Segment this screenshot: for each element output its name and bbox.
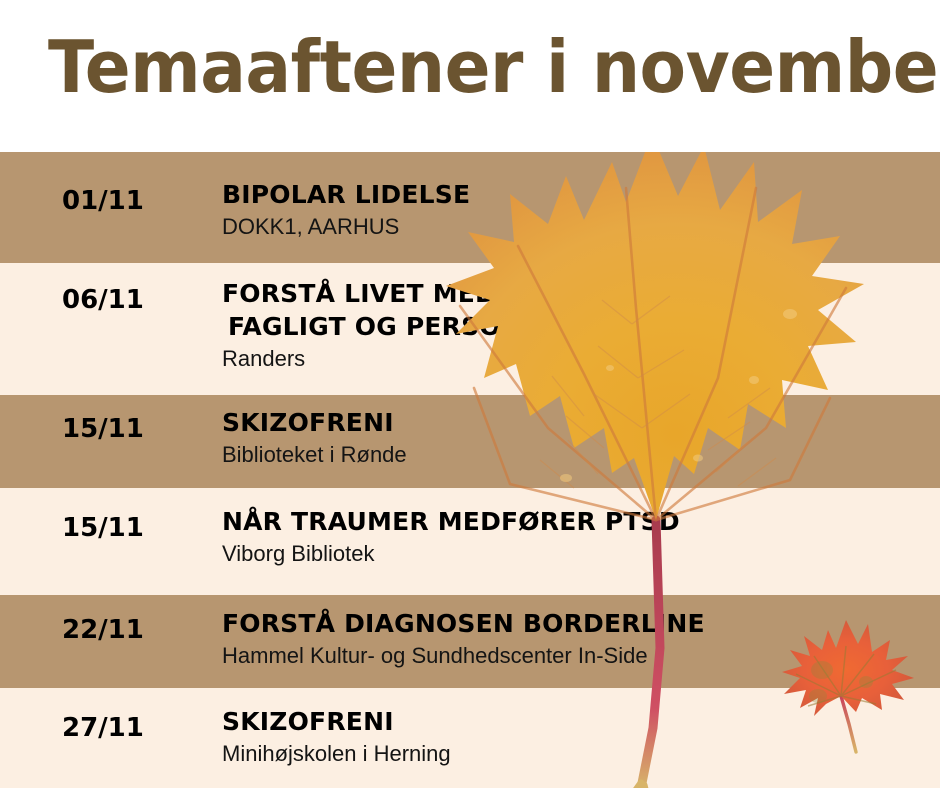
schedule-row: 27/11 SKIZOFRENI Minihøjskolen i Herning	[0, 688, 940, 788]
row-event-title: NÅR TRAUMER MEDFØRER PTSD	[222, 505, 930, 538]
row-event-venue: Minihøjskolen i Herning	[222, 739, 930, 769]
schedule-row: 06/11 FORSTÅ LIVET MED AUTISME UD FRA ET…	[0, 263, 940, 395]
row-date: 01/11	[62, 186, 144, 216]
row-date: 15/11	[62, 513, 144, 543]
row-event-title-line2: FAGLIGT OG PERSONLIGT PERSPEKTIV	[222, 310, 930, 343]
schedule-row: 15/11 SKIZOFRENI Biblioteket i Rønde	[0, 395, 940, 488]
schedule-row: 01/11 BIPOLAR LIDELSE DOKK1, AARHUS	[0, 152, 940, 263]
row-event-title: SKIZOFRENI	[222, 705, 930, 738]
row-date: 22/11	[62, 615, 144, 645]
row-event-title: BIPOLAR LIDELSE	[222, 178, 930, 211]
schedule-row: 15/11 NÅR TRAUMER MEDFØRER PTSD Viborg B…	[0, 488, 940, 595]
row-event-title: SKIZOFRENI	[222, 406, 930, 439]
page-title: Temaaftener i november	[48, 24, 856, 110]
title-band: Temaaftener i november	[0, 0, 940, 152]
row-event-venue: Biblioteket i Rønde	[222, 440, 930, 470]
row-date: 27/11	[62, 713, 144, 743]
row-date: 15/11	[62, 414, 144, 444]
row-event-title: FORSTÅ LIVET MED AUTISME UD FRA ET	[222, 277, 930, 310]
poster-canvas: 01/11 BIPOLAR LIDELSE DOKK1, AARHUS 06/1…	[0, 0, 940, 788]
row-event-title: FORSTÅ DIAGNOSEN BORDERLINE	[222, 607, 930, 640]
schedule-row: 22/11 FORSTÅ DIAGNOSEN BORDERLINE Hammel…	[0, 595, 940, 688]
row-event-venue: Hammel Kultur- og Sundhedscenter In-Side	[222, 641, 930, 671]
row-event-venue: DOKK1, AARHUS	[222, 212, 930, 242]
row-event-venue: Randers	[222, 344, 930, 374]
row-event-venue: Viborg Bibliotek	[222, 539, 930, 569]
row-date: 06/11	[62, 285, 144, 315]
